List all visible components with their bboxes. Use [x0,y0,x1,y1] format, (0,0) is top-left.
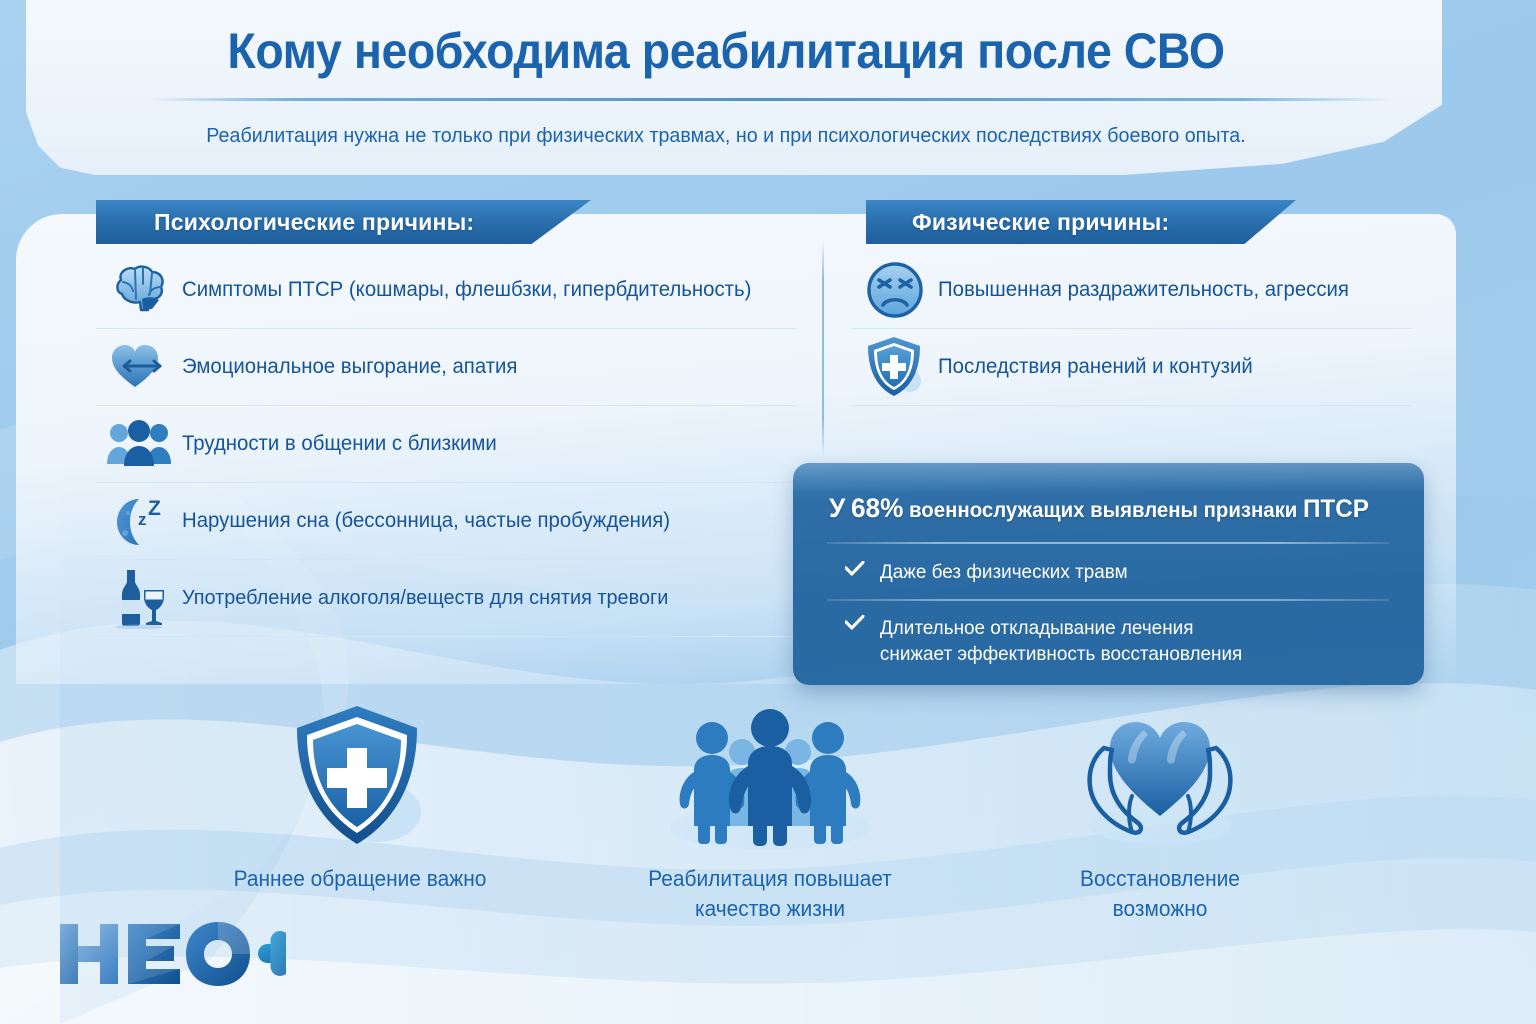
bottle-glass-icon [96,563,182,633]
psychological-causes-list: Симптомы ПТСР (кошмары, флешбзки, гиперб… [96,252,796,637]
list-item: Эмоциональное выгорание, апатия [96,329,796,406]
list-item-label: Последствия ранений и контузий [938,355,1253,379]
list-item-label: Нарушения сна (бессонница, частые пробуж… [182,509,670,533]
hands-heart-icon [1000,700,1320,850]
people-group-icon [96,409,182,479]
physical-section-label: Физические причины: [866,209,1169,236]
psychological-section-label: Психологические причины: [96,209,474,236]
heart-burnout-icon [96,332,182,402]
benefit-label: Раннее обращение важно [199,864,522,894]
angry-face-icon [852,255,938,325]
shield-cross-icon [852,332,938,402]
list-item-label: Эмоциональное выгорание, апатия [182,355,517,379]
column-divider [822,240,824,458]
list-item: Трудности в общении с близкими [96,406,796,483]
page-subtitle: Реабилитация нужна не только при физичес… [29,124,1423,148]
card-gloss [793,463,1424,493]
check-icon [845,615,864,637]
benefit-item: Восстановление возможно [1000,700,1320,923]
list-item-label: Симптомы ПТСР (кошмары, флешбзки, гиперб… [182,278,751,302]
list-item: Повышенная раздражительность, агрессия [852,252,1412,329]
shield-cross-large-icon [190,700,530,850]
benefit-item: Реабилитация повышает качество жизни [600,700,940,923]
infographic-root: Кому необходима реабилитация после СВО Р… [0,0,1536,1024]
list-item-label: Трудности в общении с близкими [182,432,497,456]
card-divider-2 [827,599,1389,601]
card-bullet-label: Длительное откладывание лечения снижает … [880,615,1242,668]
statistic-headline: У 68% военнослужащих выявлены признаки П… [829,493,1372,524]
svg-text:Z: Z [148,497,161,520]
list-item: z Z Нарушения сна (бессонница, частые пр… [96,483,796,560]
physical-causes-list: Повышенная раздражительность, агрессия П… [852,252,1412,406]
list-item: Последствия ранений и контузий [852,329,1412,406]
statistic-headline-rest: военнослужащих выявлены признаки [909,499,1297,522]
physical-section-header: Физические причины: [866,200,1296,244]
statistic-card: У 68% военнослужащих выявлены признаки П… [793,463,1424,685]
card-divider-1 [827,542,1389,544]
psychological-section-header: Психологические причины: [96,200,591,244]
benefit-label: Восстановление возможно [1008,864,1312,923]
card-bullet: Длительное откладывание лечения снижает … [845,615,1242,668]
people-team-icon [600,700,940,850]
moon-sleep-icon: z Z [96,486,182,556]
list-item-label: Повышенная раздражительность, агрессия [938,278,1349,302]
list-item: Симптомы ПТСР (кошмары, флешбзки, гиперб… [96,252,796,329]
card-bullet: Даже без физических травм [845,561,1128,584]
list-item: Употребление алкоголя/веществ для снятия… [96,560,796,637]
page-title: Кому необходима реабилитация после СВО [51,22,1401,80]
brain-icon [96,255,182,325]
card-bullet-label: Даже без физических травм [880,561,1128,584]
brand-logo [56,918,286,990]
title-divider [150,98,1390,101]
statistic-prefix: У [829,493,845,523]
statistic-percent: 68% [851,493,903,523]
benefit-label: Реабилитация повышает качество жизни [609,864,932,923]
benefit-item: Раннее обращение важно [190,700,530,894]
svg-text:z: z [138,510,147,529]
list-item-label: Употребление алкоголя/веществ для снятия… [182,586,668,610]
statistic-headline-tail: ПТСР [1303,495,1369,523]
benefits-row: Раннее обращение важно [0,700,1536,940]
check-icon [845,561,864,583]
